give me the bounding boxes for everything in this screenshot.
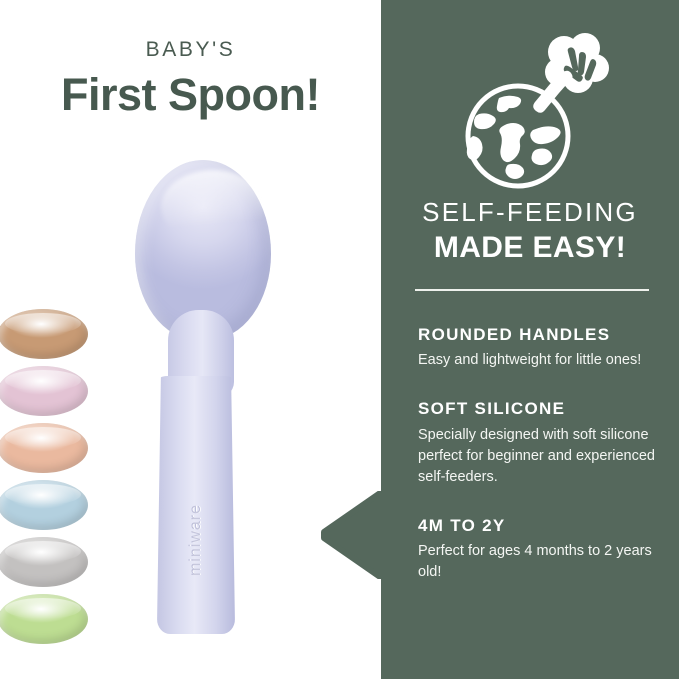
color-swatch-spoon-tan[interactable] — [0, 309, 88, 359]
swatch-bowl — [0, 423, 88, 473]
panel-pointer-arrow — [321, 491, 381, 579]
swatch-bowl — [0, 480, 88, 530]
feature-body: Easy and lightweight for little ones! — [418, 350, 658, 371]
title-eyebrow: BABY'S — [0, 38, 381, 61]
title-block: BABY'S First Spoon! — [0, 38, 381, 121]
color-swatch-spoon-pink[interactable] — [0, 366, 88, 416]
heading-line-2: MADE EASY! — [381, 230, 679, 266]
section-heading: SELF-FEEDING MADE EASY! — [381, 198, 679, 266]
product-infographic: BABY'S First Spoon! miniware — [0, 0, 679, 679]
main-spoon-image: miniware — [120, 160, 280, 640]
color-swatch-spoon-blue[interactable] — [0, 480, 88, 530]
swatch-bowl — [0, 537, 88, 587]
swatch-bowl — [0, 366, 88, 416]
feature-body: Perfect for ages 4 months to 2 years old… — [418, 541, 658, 583]
heading-divider — [415, 289, 649, 291]
swatch-bowl — [0, 594, 88, 644]
color-swatch-spoon-gray[interactable] — [0, 537, 88, 587]
spoon-bowl-highlight — [161, 170, 265, 244]
color-swatch-spoon-peach[interactable] — [0, 423, 88, 473]
feature-title: ROUNDED HANDLES — [418, 325, 658, 345]
right-panel: SELF-FEEDING MADE EASY! ROUNDED HANDLESE… — [381, 0, 679, 679]
swatch-bowl — [0, 309, 88, 359]
page-title: First Spoon! — [0, 69, 381, 121]
feature-title: 4M TO 2Y — [418, 516, 658, 536]
feature-list: ROUNDED HANDLESEasy and lightweight for … — [418, 325, 658, 583]
color-swatch-spoon-green[interactable] — [0, 594, 88, 644]
feature-item: 4M TO 2YPerfect for ages 4 months to 2 y… — [418, 516, 658, 583]
globe-sprout-icon — [465, 18, 611, 190]
feature-title: SOFT SILICONE — [418, 399, 658, 419]
heading-line-1: SELF-FEEDING — [381, 198, 679, 228]
left-panel: BABY'S First Spoon! miniware — [0, 0, 381, 679]
feature-item: ROUNDED HANDLESEasy and lightweight for … — [418, 325, 658, 371]
feature-item: SOFT SILICONESpecially designed with sof… — [418, 399, 658, 487]
spoon-handle — [157, 376, 235, 634]
feature-body: Specially designed with soft silicone pe… — [418, 425, 658, 488]
